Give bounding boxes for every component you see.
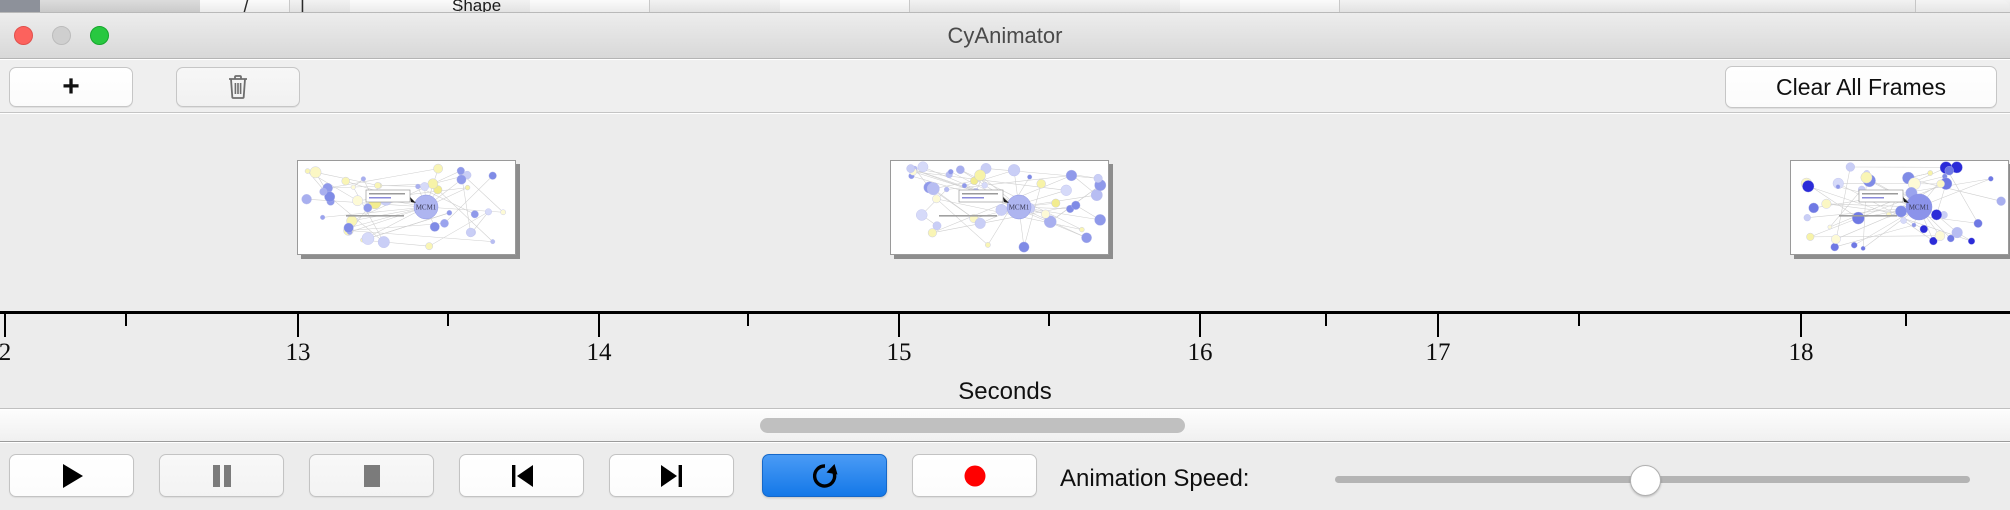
- axis-tick-label: 2: [0, 339, 11, 367]
- background-tab: [530, 0, 650, 13]
- trash-icon: [227, 74, 249, 100]
- timeline-frame[interactable]: MCM1: [890, 160, 1109, 255]
- axis-tick-major: [1800, 314, 1802, 337]
- axis-tick-major: [4, 314, 6, 337]
- timeline-frame[interactable]: MCM1: [297, 160, 516, 255]
- network-hub-label: MCM1: [1009, 204, 1030, 212]
- axis-tick-major: [297, 314, 299, 337]
- plus-icon: +: [62, 72, 80, 102]
- timeline-panel[interactable]: MCM1 MCM1 MCM1 2131415161718 Seconds: [0, 114, 2010, 409]
- record-icon: [962, 463, 988, 489]
- axis-tick-major: [598, 314, 600, 337]
- axis-tick-minor: [1905, 314, 1907, 326]
- axis-tick-major: [1199, 314, 1201, 337]
- axis-title: Seconds: [0, 378, 2010, 406]
- network-thumbnail: MCM1: [1791, 161, 2009, 255]
- delete-frame-button[interactable]: [176, 67, 300, 107]
- background-tab: [350, 0, 460, 13]
- axis-tick-label: 17: [1426, 339, 1451, 367]
- network-thumbnail: MCM1: [298, 161, 516, 255]
- background-glyph: |: [300, 0, 305, 13]
- axis-tick-minor: [1578, 314, 1580, 326]
- axis-tick-major: [898, 314, 900, 337]
- axis-tick-major: [1437, 314, 1439, 337]
- animation-speed-label: Animation Speed:: [1060, 465, 1249, 493]
- skip-to-start-button[interactable]: [459, 454, 584, 497]
- axis-tick-minor: [1048, 314, 1050, 326]
- axis-tick-label: 14: [587, 339, 612, 367]
- network-thumbnail: MCM1: [891, 161, 1109, 255]
- add-frame-button[interactable]: +: [9, 67, 133, 107]
- skip-next-icon: [659, 462, 685, 490]
- horizontal-scrollbar[interactable]: [0, 410, 2010, 442]
- axis-tick-label: 16: [1188, 339, 1213, 367]
- play-icon: [59, 462, 85, 490]
- axis-tick-minor: [1325, 314, 1327, 326]
- background-dark-block: [0, 0, 40, 13]
- background-tab: [1180, 0, 1340, 13]
- network-hub-label: MCM1: [1909, 204, 1930, 212]
- cyanimator-window: / | Shape CyAnimator + Clear All Frames: [0, 0, 2010, 510]
- loop-button[interactable]: [762, 454, 887, 497]
- stop-icon: [360, 462, 384, 490]
- window-title: CyAnimator: [0, 23, 2010, 49]
- axis-tick-minor: [125, 314, 127, 326]
- title-bar: CyAnimator: [0, 13, 2010, 59]
- timeline-frame[interactable]: MCM1: [1790, 160, 2009, 255]
- axis-tick-label: 13: [286, 339, 311, 367]
- clear-all-frames-button[interactable]: Clear All Frames: [1725, 66, 1997, 108]
- network-hub-label: MCM1: [416, 204, 437, 212]
- axis-tick-label: 15: [887, 339, 912, 367]
- play-button[interactable]: [9, 454, 134, 497]
- background-window-strip: / | Shape: [0, 0, 2010, 13]
- background-panel-block: [40, 0, 200, 13]
- pause-button[interactable]: [159, 454, 284, 497]
- axis-tick-label: 18: [1789, 339, 1814, 367]
- axis-tick-minor: [747, 314, 749, 326]
- loop-icon: [810, 461, 840, 491]
- background-tab: [780, 0, 910, 13]
- clear-all-frames-label: Clear All Frames: [1776, 74, 1946, 101]
- pause-icon: [210, 462, 234, 490]
- record-button[interactable]: [912, 454, 1037, 497]
- scrollbar-thumb[interactable]: [760, 418, 1185, 433]
- axis-tick-minor: [447, 314, 449, 326]
- background-glyph: /: [243, 0, 248, 13]
- stop-button[interactable]: [309, 454, 434, 497]
- skip-previous-icon: [509, 462, 535, 490]
- background-tab-label: Shape: [452, 0, 501, 13]
- timeline-axis: [0, 311, 2010, 314]
- toolbar: + Clear All Frames: [0, 60, 2010, 113]
- animation-speed-slider-thumb[interactable]: [1630, 465, 1661, 496]
- background-window-corner: [1915, 0, 2010, 13]
- skip-to-end-button[interactable]: [609, 454, 734, 497]
